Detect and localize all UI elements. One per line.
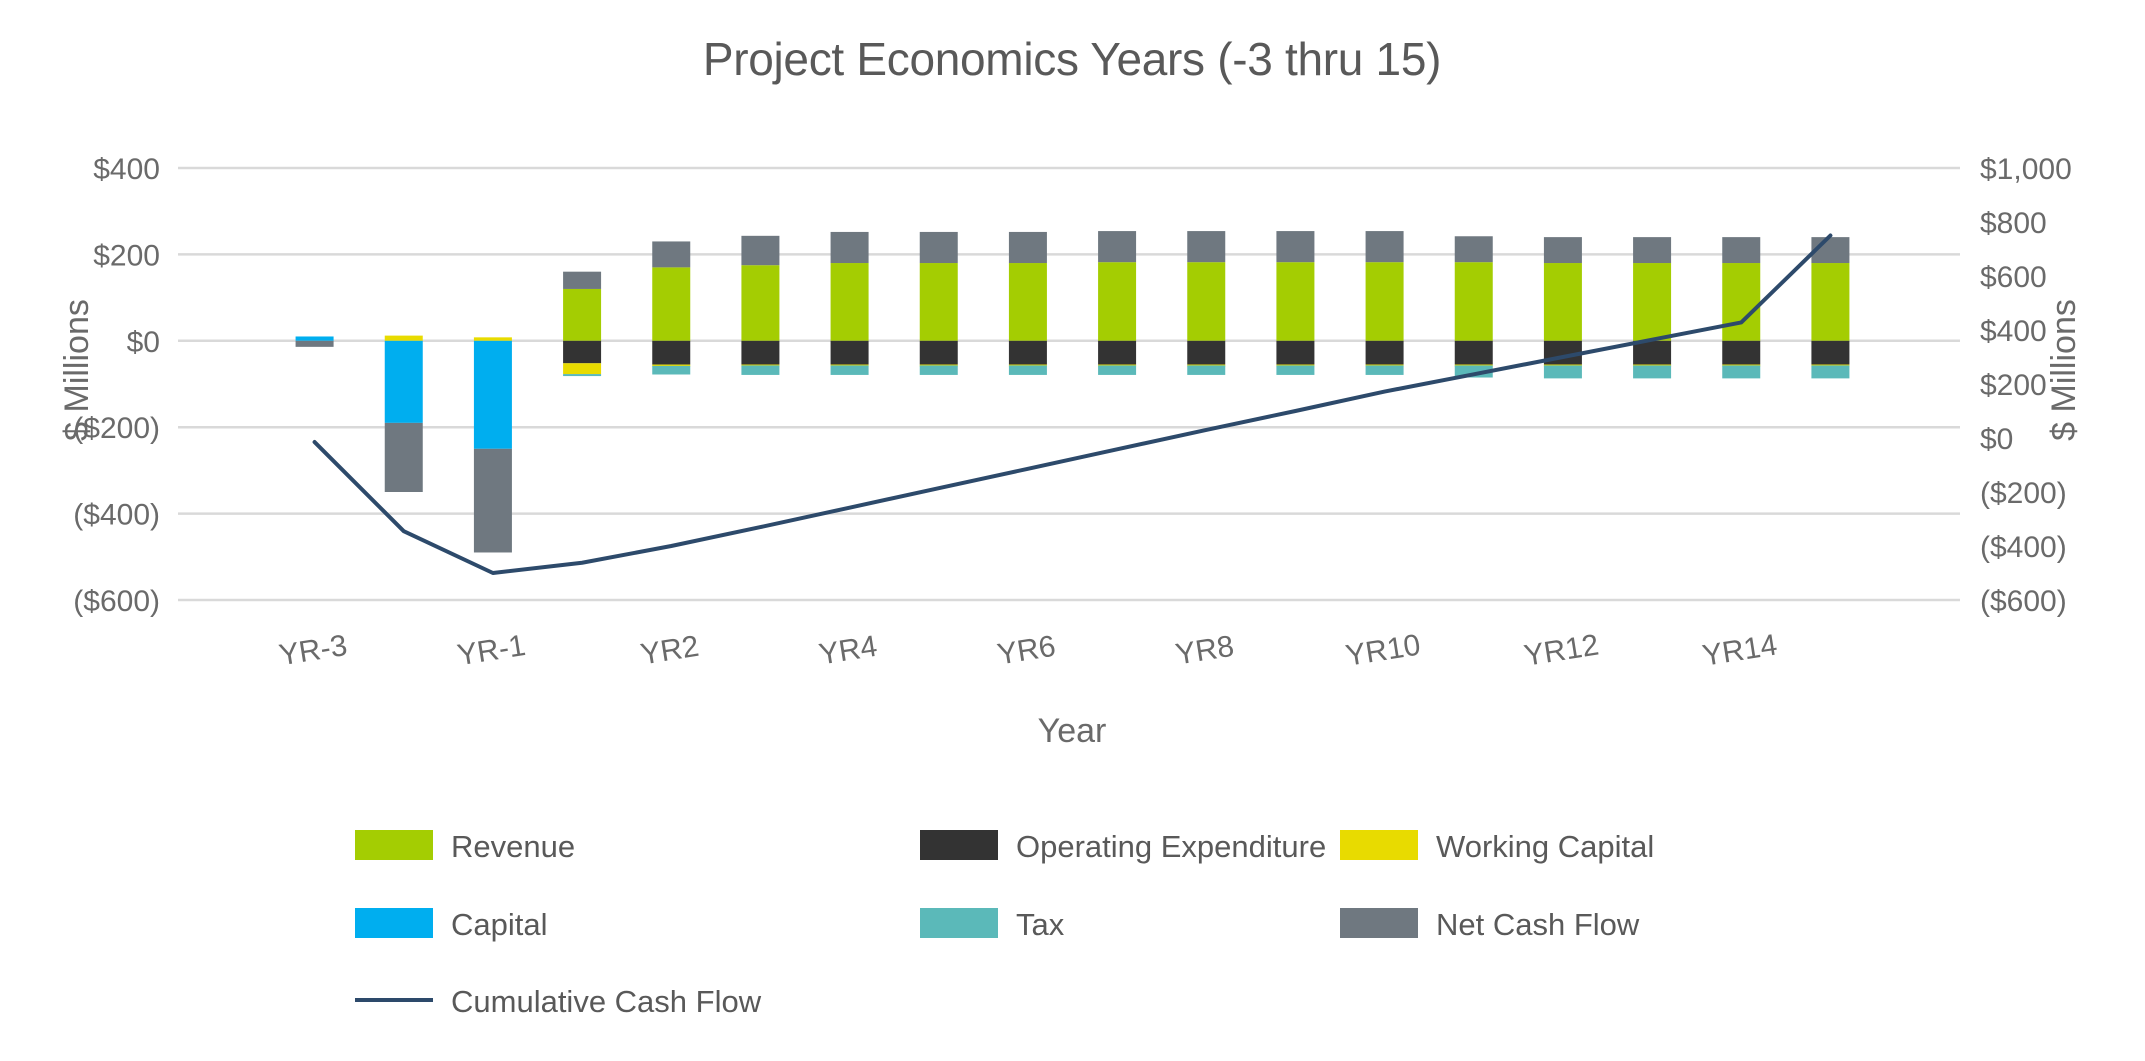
y-axis-left-tick-label: ($600) [73,585,160,618]
bar-segment [1009,263,1047,341]
bar-segment [1544,237,1582,263]
y-axis-right-tick-label: $400 [1980,315,2047,348]
bar-segment [741,236,779,265]
y-axis-left-tick-label: $0 [127,326,160,359]
bar-segment [563,341,601,363]
bar-segment [741,365,779,375]
legend-label: Revenue [451,829,575,864]
bar-segment [831,232,869,263]
y-axis-right-tick-label: $600 [1980,261,2047,294]
bar-segment [1811,341,1849,365]
legend-label: Cumulative Cash Flow [451,984,762,1019]
y-axis-right-tick-label: ($600) [1980,585,2067,618]
bar-segment [1722,341,1760,365]
bar-segment [1187,365,1225,375]
bar-segment [1366,365,1404,375]
bar-segment [652,341,690,365]
chart-container: Project Economics Years (-3 thru 15) $40… [0,0,2145,1061]
bars-layer [296,231,1850,552]
bar-segment [741,265,779,341]
y-axis-right-tick-label: ($400) [1980,531,2067,564]
bar-segment [1009,232,1047,263]
chart-legend: RevenueOperating ExpenditureWorking Capi… [355,829,1654,1019]
bar-segment [296,336,334,340]
bar-segment [1366,231,1404,262]
bar-segment [1187,231,1225,262]
bar-segment [920,341,958,365]
bar-segment [1455,341,1493,365]
bar-segment [563,289,601,341]
bar-segment [1009,365,1047,375]
cumulative-cash-flow-line [315,236,1831,574]
bar-segment [296,341,334,347]
bar-segment [1633,341,1671,365]
bar-segment [1098,262,1136,341]
bar-segment [1455,236,1493,262]
bar-segment [563,272,601,289]
x-axis-category-ticks: YR-3YR-1YR2YR4YR6YR8YR10YR12YR14 [277,628,1780,672]
bar-segment [563,363,601,374]
y-axis-left-title: $ Millions [58,299,96,441]
legend-item[interactable]: Capital [355,907,548,942]
x-axis-tick-label: YR12 [1522,628,1601,672]
legend-item[interactable]: Operating Expenditure [920,829,1326,864]
y-axis-right-tick-label: $1,000 [1980,153,2072,186]
bar-segment [652,366,690,375]
bar-segment [474,341,512,449]
bar-segment [1544,263,1582,341]
chart-title: Project Economics Years (-3 thru 15) [703,33,1441,85]
legend-label: Net Cash Flow [1436,907,1640,942]
bar-segment [474,449,512,553]
x-axis-tick-label: YR-3 [277,629,350,672]
bar-segment [1811,263,1849,341]
legend-label: Working Capital [1436,829,1654,864]
gridlines [178,168,1960,600]
y-axis-right-tick-label: $200 [1980,369,2047,402]
legend-item[interactable]: Cumulative Cash Flow [355,984,762,1019]
legend-item[interactable]: Tax [920,907,1065,942]
bar-segment [831,365,869,375]
legend-item[interactable]: Working Capital [1340,829,1654,864]
bar-segment [1098,231,1136,262]
bar-segment [831,341,869,365]
bar-segment [1276,231,1314,262]
bar-segment [920,232,958,263]
y-axis-right-tick-label: $0 [1980,423,2013,456]
y-axis-right-tick-label: $800 [1980,207,2047,240]
bar-segment [1276,365,1314,375]
bar-segment [1276,262,1314,341]
project-economics-chart: Project Economics Years (-3 thru 15) $40… [0,0,2145,1061]
bar-segment [920,263,958,341]
bar-segment [831,263,869,341]
bar-segment [1098,341,1136,365]
bar-segment [385,341,423,423]
bar-segment [741,341,779,365]
y-axis-left-tick-label: ($400) [73,499,160,532]
y-axis-right-title: $ Millions [2045,299,2083,441]
x-axis-tick-label: YR8 [1173,630,1236,672]
bar-segment [1722,263,1760,341]
y-axis-right-tick-label: ($200) [1980,477,2067,510]
bar-segment [1098,365,1136,375]
legend-item[interactable]: Revenue [355,829,575,864]
cumulative-line-path [315,236,1831,574]
bar-segment [1544,365,1582,378]
legend-label: Operating Expenditure [1016,829,1326,864]
x-axis-tick-label: YR4 [817,630,880,672]
y-axis-left-tick-label: $200 [93,239,160,272]
bar-segment [1009,341,1047,365]
bar-segment [563,374,601,376]
bar-segment [1366,341,1404,365]
bar-segment [1811,365,1849,378]
bar-segment [1722,237,1760,263]
legend-item[interactable]: Net Cash Flow [1340,907,1640,942]
bar-segment [385,336,423,341]
y-axis-left-tick-label: $400 [93,153,160,186]
x-axis-tick-label: YR14 [1700,628,1779,672]
bar-segment [920,365,958,375]
x-axis-title: Year [1038,712,1107,750]
bar-segment [652,267,690,340]
x-axis-tick-label: YR2 [638,630,701,672]
legend-label: Capital [451,907,548,942]
bar-segment [1633,237,1671,263]
bar-segment [1722,365,1760,378]
bar-segment [1633,263,1671,341]
bar-segment [1366,262,1404,341]
bar-segment [652,241,690,267]
bar-segment [1633,365,1671,378]
bar-segment [1455,262,1493,341]
x-axis-tick-label: YR6 [995,630,1058,672]
x-axis-tick-label: YR10 [1343,628,1422,672]
bar-segment [385,423,423,492]
bar-segment [474,337,512,340]
bar-segment [1187,341,1225,365]
legend-label: Tax [1016,907,1065,942]
bar-segment [1187,262,1225,341]
bar-segment [1276,341,1314,365]
x-axis-tick-label: YR-1 [455,629,528,672]
